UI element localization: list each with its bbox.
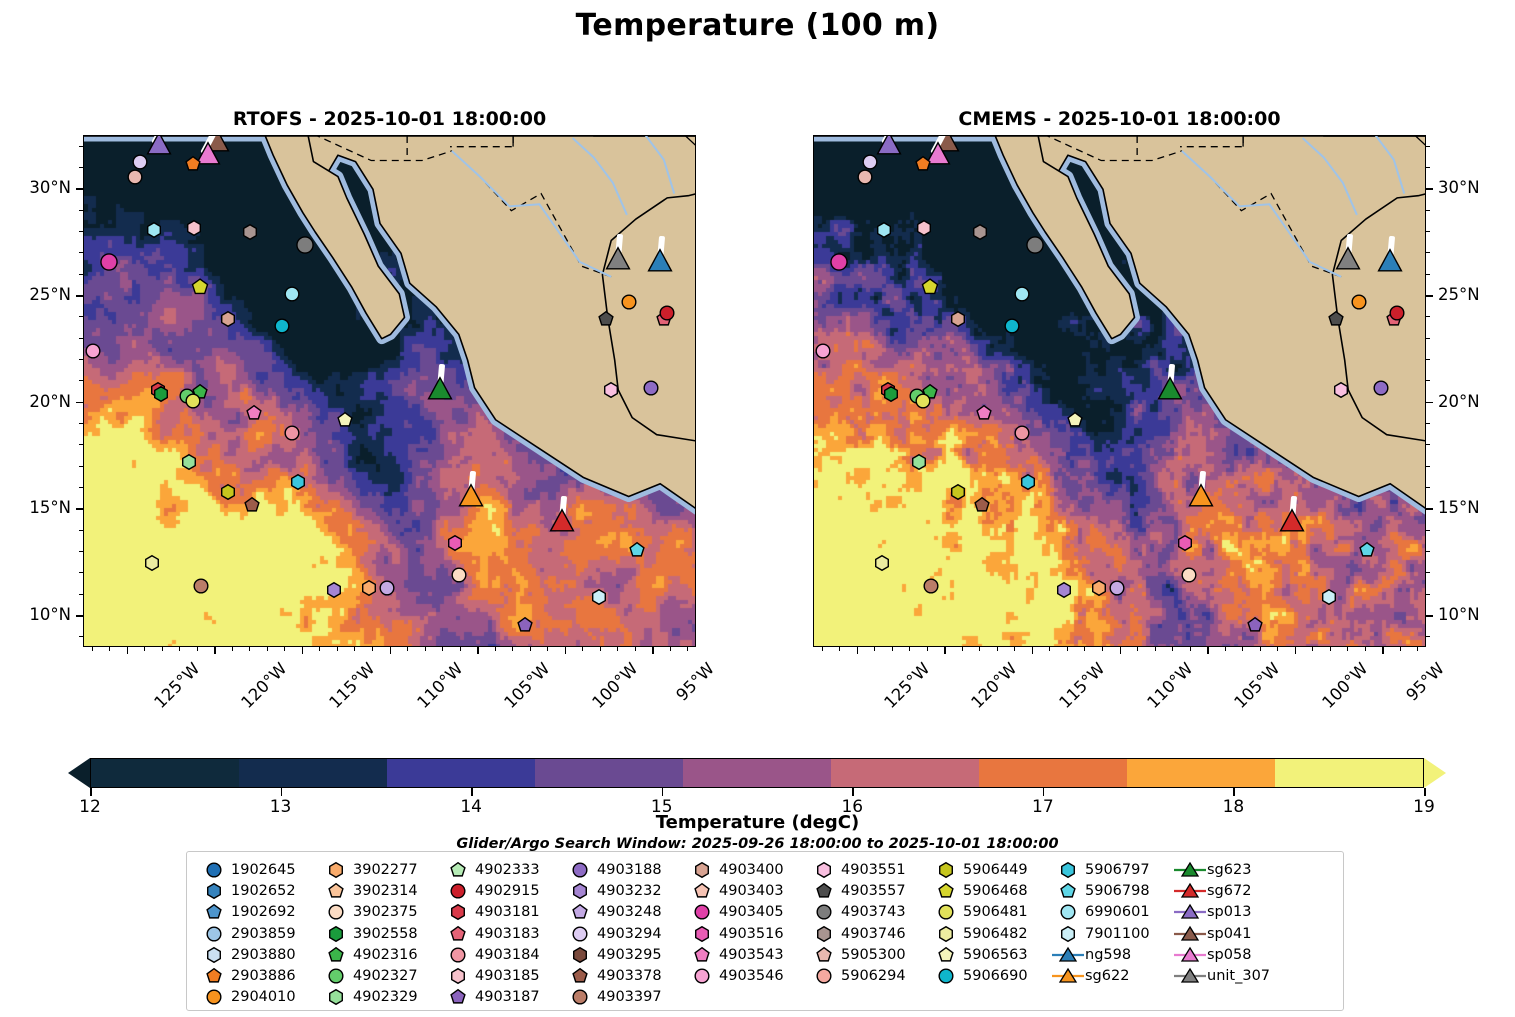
- legend-item-4902915[interactable]: 4902915: [441, 880, 563, 901]
- map-marker-2904010[interactable]: [618, 291, 640, 313]
- legend-item-4903183[interactable]: 4903183: [441, 923, 563, 944]
- legend-symbol-pentagon-icon: [197, 901, 231, 923]
- map-marker-sg672[interactable]: [547, 507, 577, 537]
- map-marker-3902558[interactable]: [150, 383, 172, 405]
- legend-item-7901100[interactable]: 7901100: [1051, 923, 1173, 944]
- legend-item-4903516[interactable]: 4903516: [685, 923, 807, 944]
- legend-item-1902692[interactable]: 1902692: [197, 902, 319, 923]
- map-marker-3902558[interactable]: [880, 383, 902, 405]
- map-marker-4903397[interactable]: [190, 575, 212, 597]
- legend-item-5906449[interactable]: 5906449: [929, 859, 1051, 880]
- colorbar-segment-6: [979, 759, 1127, 787]
- legend-item-2903859[interactable]: 2903859: [197, 923, 319, 944]
- y-minor-tick: [79, 167, 83, 168]
- legend-item-3902558[interactable]: 3902558: [319, 923, 441, 944]
- y-minor-tick: [79, 380, 83, 381]
- map-marker-5906690[interactable]: [1001, 315, 1023, 337]
- map-marker-4903185[interactable]: [183, 217, 205, 239]
- legend-symbol-pentagon-icon: [685, 880, 719, 902]
- legend-symbol-circle-icon: [807, 901, 841, 923]
- x-tick-label: 105°W: [1230, 659, 1283, 712]
- legend-item-4903400[interactable]: 4903400: [685, 859, 807, 880]
- x-minor-tick: [1347, 647, 1348, 651]
- y-minor-tick: [1426, 615, 1430, 616]
- y-minor-tick: [1426, 636, 1430, 637]
- map-marker-4903184[interactable]: [1011, 422, 1033, 444]
- map-marker-4903187[interactable]: [1244, 614, 1266, 636]
- legend-column-8: sg623sg672sp013sp041sp058unit_307: [1173, 859, 1305, 1004]
- map-marker-4903546[interactable]: [83, 340, 104, 362]
- legend-item-sp058[interactable]: sp058: [1173, 944, 1305, 965]
- map-marker-5906798[interactable]: [873, 219, 895, 241]
- x-minor-tick: [1225, 647, 1226, 651]
- legend-label: 4903551: [841, 862, 906, 878]
- legend-item-4903405[interactable]: 4903405: [685, 902, 807, 923]
- map-marker-4903557[interactable]: [1325, 308, 1347, 330]
- map-marker-4903397[interactable]: [920, 575, 942, 597]
- y-minor-tick: [79, 444, 83, 445]
- x-minor-tick: [1365, 647, 1366, 651]
- legend-label: 5906449: [963, 862, 1028, 878]
- y-minor-tick: [79, 530, 83, 531]
- legend-label: 2903859: [231, 926, 296, 942]
- colorbar-segment-4: [683, 759, 831, 787]
- x-minor-tick: [337, 647, 338, 651]
- legend-label: 4902316: [353, 947, 418, 963]
- legend-label: sp013: [1207, 904, 1251, 920]
- map-marker-ng598[interactable]: [645, 247, 675, 277]
- map-marker-5905300[interactable]: [854, 166, 876, 188]
- legend-label: 4903188: [597, 862, 662, 878]
- map-marker-7901100[interactable]: [588, 586, 610, 608]
- legend-item-4903185[interactable]: 4903185: [441, 965, 563, 986]
- legend-item-5906563[interactable]: 5906563: [929, 944, 1051, 965]
- legend-item-3902375[interactable]: 3902375: [319, 902, 441, 923]
- legend-column-7: 5906797590679869906017901100ng598sg622: [1051, 859, 1173, 1004]
- map-marker-3902375[interactable]: [1178, 564, 1200, 586]
- map-marker-4903743[interactable]: [1022, 232, 1048, 258]
- map-canvas-cmems[interactable]: [813, 135, 1426, 647]
- legend-column-3: 4903188490323249032484903294490329549033…: [563, 859, 685, 1004]
- map-marker-4903184[interactable]: [281, 422, 303, 444]
- map-marker-5906797[interactable]: [1017, 471, 1039, 493]
- x-minor-tick: [997, 647, 998, 651]
- map-marker-5906563[interactable]: [1064, 409, 1086, 431]
- colorbar-segment-3: [535, 759, 683, 787]
- x-tick-label: 115°W: [1055, 659, 1108, 712]
- map-marker-unit_307[interactable]: [603, 245, 633, 275]
- legend-label: 3902558: [353, 926, 418, 942]
- y-minor-tick: [79, 615, 83, 616]
- x-minor-tick: [1014, 647, 1015, 651]
- legend-label: 1902652: [231, 883, 296, 899]
- map-marker-4903551[interactable]: [1330, 379, 1352, 401]
- legend-label: 3902314: [353, 883, 418, 899]
- map-marker-6990601[interactable]: [281, 283, 303, 305]
- legend-symbol-pentagon-icon: [807, 880, 841, 902]
- map-marker-sg622[interactable]: [1186, 482, 1216, 512]
- x-minor-tick: [512, 647, 513, 651]
- map-marker-sg623[interactable]: [425, 375, 455, 405]
- legend-label: 5906294: [841, 968, 906, 984]
- y-tick-label: 30°N: [1438, 178, 1480, 197]
- x-minor-tick: [1207, 647, 1208, 651]
- legend-item-2904010[interactable]: 2904010: [197, 987, 319, 1008]
- x-minor-tick: [1032, 647, 1033, 651]
- x-tick-label: 120°W: [968, 659, 1021, 712]
- y-minor-tick: [79, 338, 83, 339]
- legend-column-2: 4902333490291549031814903183490318449031…: [441, 859, 563, 1004]
- x-tick-label: 95°W: [1403, 659, 1449, 705]
- legend-item-4903546[interactable]: 4903546: [685, 965, 807, 986]
- x-minor-tick: [839, 647, 840, 651]
- x-minor-tick: [302, 647, 303, 651]
- x-minor-tick: [874, 647, 875, 651]
- map-marker-4903746[interactable]: [239, 221, 261, 243]
- legend-item-4903397[interactable]: 4903397: [563, 987, 685, 1008]
- map-marker-4903378[interactable]: [971, 494, 993, 516]
- map-marker-4903543[interactable]: [973, 402, 995, 424]
- legend-item-4903743[interactable]: 4903743: [807, 902, 929, 923]
- legend-symbol-circle-icon: [685, 901, 719, 923]
- legend-symbol-pentagon-icon: [1051, 880, 1085, 902]
- map-marker-5906481[interactable]: [912, 390, 934, 412]
- colorbar: 1213141516171819: [68, 758, 1446, 788]
- map-marker-4902915[interactable]: [1386, 302, 1408, 324]
- legend-item-sp041[interactable]: sp041: [1173, 923, 1305, 944]
- map-marker-5906482[interactable]: [141, 552, 163, 574]
- legend-item-4903294[interactable]: 4903294: [563, 923, 685, 944]
- legend-label: sp058: [1207, 947, 1251, 963]
- legend-symbol-circle-icon: [441, 944, 475, 966]
- legend-item-2903886[interactable]: 2903886: [197, 965, 319, 986]
- map-marker-5906468[interactable]: [188, 275, 212, 299]
- legend-label: 4903295: [597, 947, 662, 963]
- map-marker-5906481[interactable]: [182, 390, 204, 412]
- legend-label: 7901100: [1085, 926, 1150, 942]
- x-minor-tick: [670, 647, 671, 651]
- y-minor-tick: [1426, 487, 1430, 488]
- legend-item-ng598[interactable]: ng598: [1051, 944, 1173, 965]
- legend-symbol-hexagon-icon: [441, 965, 475, 987]
- y-minor-tick: [1426, 530, 1430, 531]
- x-minor-tick: [1120, 647, 1121, 651]
- map-marker-ng598[interactable]: [1375, 247, 1405, 277]
- x-minor-tick: [1260, 647, 1261, 651]
- map-marker-4903543[interactable]: [243, 402, 265, 424]
- map-marker-4903746[interactable]: [969, 221, 991, 243]
- legend-label: 4903403: [719, 883, 784, 899]
- x-minor-tick: [477, 647, 478, 651]
- legend-symbol-pentagon-icon: [685, 944, 719, 966]
- x-minor-tick: [214, 647, 215, 651]
- map-marker-5906468[interactable]: [918, 275, 942, 299]
- map-marker-5906482[interactable]: [871, 552, 893, 574]
- legend-item-4903378[interactable]: 4903378: [563, 965, 685, 986]
- y-minor-tick: [79, 423, 83, 424]
- legend-label: ng598: [1085, 947, 1131, 963]
- legend-item-4903746[interactable]: 4903746: [807, 923, 929, 944]
- legend-label: sg622: [1085, 968, 1129, 984]
- map-marker-4903557[interactable]: [595, 308, 617, 330]
- x-minor-tick: [1190, 647, 1191, 651]
- legend-item-4903188[interactable]: 4903188: [563, 859, 685, 880]
- legend-label: 4902329: [353, 989, 418, 1005]
- colorbar-segment-0: [91, 759, 239, 787]
- x-minor-tick: [600, 647, 601, 651]
- legend-item-5906690[interactable]: 5906690: [929, 965, 1051, 986]
- map-marker-4903546[interactable]: [813, 340, 834, 362]
- map-marker-4902329[interactable]: [178, 451, 200, 473]
- legend-label: 4903183: [475, 926, 540, 942]
- legend-item-5906797[interactable]: 5906797: [1051, 859, 1173, 880]
- y-minor-tick: [1426, 146, 1430, 147]
- figure-title: Temperature (100 m): [0, 8, 1515, 43]
- map-panel-cmems: CMEMS - 2025-10-01 18:00:00125°W120°W115…: [813, 135, 1426, 647]
- map-marker-5906563[interactable]: [334, 409, 356, 431]
- legend-symbol-hexagon-icon: [685, 923, 719, 945]
- legend-item-sg672[interactable]: sg672: [1173, 880, 1305, 901]
- legend-label: 4902327: [353, 968, 418, 984]
- legend-symbol-pentagon-icon: [929, 880, 963, 902]
- map-marker-sg623[interactable]: [1155, 375, 1185, 405]
- map-marker-4903405[interactable]: [96, 249, 122, 275]
- legend-symbol-circle-icon: [807, 965, 841, 987]
- map-marker-5906449[interactable]: [947, 481, 969, 503]
- legend-symbol-hexagon-icon: [929, 923, 963, 945]
- legend-symbol-triangle-line-icon: [1173, 882, 1207, 900]
- legend-item-sg623[interactable]: sg623: [1173, 859, 1305, 880]
- map-marker-4903516[interactable]: [444, 532, 466, 554]
- legend-symbol-hexagon-icon: [441, 901, 475, 923]
- legend-label: unit_307: [1207, 968, 1270, 984]
- legend-label: 4903397: [597, 989, 662, 1005]
- legend-label: 6990601: [1085, 904, 1150, 920]
- y-minor-tick: [1426, 444, 1430, 445]
- x-minor-tick: [442, 647, 443, 651]
- x-minor-tick: [284, 647, 285, 651]
- y-minor-tick: [79, 551, 83, 552]
- legend-item-4903403[interactable]: 4903403: [685, 880, 807, 901]
- map-marker-4903516[interactable]: [1174, 532, 1196, 554]
- map-marker-4903232[interactable]: [1053, 579, 1075, 601]
- legend-label: 4903187: [475, 989, 540, 1005]
- legend-item-4903187[interactable]: 4903187: [441, 987, 563, 1008]
- map-marker-sg622[interactable]: [456, 482, 486, 512]
- colorbar-tick: [1424, 788, 1426, 796]
- legend-label: 4902333: [475, 862, 540, 878]
- legend-label: 5906481: [963, 904, 1028, 920]
- legend-item-5906798[interactable]: 5906798: [1051, 880, 1173, 901]
- x-minor-tick: [1084, 647, 1085, 651]
- legend-item-5906481[interactable]: 5906481: [929, 902, 1051, 923]
- legend-item-4903248[interactable]: 4903248: [563, 902, 685, 923]
- legend-item-6990601[interactable]: 6990601: [1051, 902, 1173, 923]
- legend-symbol-hexagon-icon: [807, 859, 841, 881]
- map-marker-4903248[interactable]: [376, 577, 398, 599]
- legend-symbol-pentagon-icon: [319, 880, 353, 902]
- legend-item-2903880[interactable]: 2903880: [197, 944, 319, 965]
- x-minor-tick: [1137, 647, 1138, 651]
- y-tick-label: 10°N: [29, 605, 71, 624]
- map-marker-4903248[interactable]: [1106, 577, 1128, 599]
- map-marker-5905300[interactable]: [124, 166, 146, 188]
- map-marker-7901100[interactable]: [1318, 586, 1340, 608]
- legend-item-5906482[interactable]: 5906482: [929, 923, 1051, 944]
- y-minor-tick: [79, 274, 83, 275]
- legend-item-4903181[interactable]: 4903181: [441, 902, 563, 923]
- y-minor-tick: [79, 487, 83, 488]
- legend-item-1902652[interactable]: 1902652: [197, 880, 319, 901]
- map-marker-5906798b[interactable]: [626, 539, 648, 561]
- legend-symbol-pentagon-icon: [441, 923, 475, 945]
- legend-item-4902316[interactable]: 4902316: [319, 944, 441, 965]
- legend-label: 4902915: [475, 883, 540, 899]
- map-marker-4903188[interactable]: [640, 377, 662, 399]
- x-minor-tick: [1417, 647, 1418, 651]
- legend-symbol-circle-icon: [197, 923, 231, 945]
- legend-item-5906468[interactable]: 5906468: [929, 880, 1051, 901]
- legend-item-3902277[interactable]: 3902277: [319, 859, 441, 880]
- x-minor-tick: [495, 647, 496, 651]
- legend-label: 4903378: [597, 968, 662, 984]
- legend-symbol-circle-icon: [929, 901, 963, 923]
- y-minor-tick: [1426, 188, 1430, 189]
- legend-item-3902314[interactable]: 3902314: [319, 880, 441, 901]
- x-minor-tick: [267, 647, 268, 651]
- legend-item-4903557[interactable]: 4903557: [807, 880, 929, 901]
- y-minor-tick: [1426, 380, 1430, 381]
- map-marker-4903400[interactable]: [217, 308, 239, 330]
- y-minor-tick: [1426, 316, 1430, 317]
- x-minor-tick: [319, 647, 320, 651]
- map-marker-5906449[interactable]: [217, 481, 239, 503]
- map-marker-4903185[interactable]: [913, 217, 935, 239]
- x-minor-tick: [927, 647, 928, 651]
- map-marker-4903400[interactable]: [947, 308, 969, 330]
- map-marker-5906798b[interactable]: [1356, 539, 1378, 561]
- legend-symbol-pentagon-icon: [441, 986, 475, 1008]
- map-marker-sg672[interactable]: [1277, 507, 1307, 537]
- map-marker-5906798[interactable]: [143, 219, 165, 241]
- y-tick-label: 15°N: [29, 498, 71, 517]
- x-minor-tick: [687, 647, 688, 651]
- legend-label: 5906563: [963, 947, 1028, 963]
- panel-title-cmems: CMEMS - 2025-10-01 18:00:00: [813, 108, 1426, 130]
- map-marker-unit_307[interactable]: [1333, 245, 1363, 275]
- map-marker-4903378[interactable]: [241, 494, 263, 516]
- legend-label: 4903248: [597, 904, 662, 920]
- map-marker-4903232[interactable]: [323, 579, 345, 601]
- legend-label: 2903886: [231, 968, 296, 984]
- legend-item-4903543[interactable]: 4903543: [685, 944, 807, 965]
- legend-item-sg622[interactable]: sg622: [1051, 965, 1173, 986]
- legend-item-unit_307[interactable]: unit_307: [1173, 965, 1305, 986]
- colorbar-under-arrow: [68, 758, 90, 788]
- legend-item-4903551[interactable]: 4903551: [807, 859, 929, 880]
- x-minor-tick: [582, 647, 583, 651]
- legend-item-5905300[interactable]: 5905300: [807, 944, 929, 965]
- map-marker-4903188[interactable]: [1370, 377, 1392, 399]
- legend-label: 3902277: [353, 862, 418, 878]
- x-minor-tick: [460, 647, 461, 651]
- map-marker-4903405[interactable]: [826, 249, 852, 275]
- map-marker-4903551[interactable]: [600, 379, 622, 401]
- legend-label: 2904010: [231, 989, 296, 1005]
- x-minor-tick: [144, 647, 145, 651]
- map-canvas-rtofs[interactable]: [83, 135, 696, 647]
- map-marker-4903187[interactable]: [514, 614, 536, 636]
- x-tick-label: 125°W: [880, 659, 933, 712]
- legend-symbol-circle-icon: [197, 859, 231, 881]
- y-tick-label: 10°N: [1438, 605, 1480, 624]
- colorbar-tick: [852, 788, 854, 796]
- legend-symbol-hexagon-icon: [563, 944, 597, 966]
- y-tick-label: 25°N: [1438, 285, 1480, 304]
- map-marker-4902915[interactable]: [656, 302, 678, 324]
- legend-item-4902329[interactable]: 4902329: [319, 987, 441, 1008]
- x-minor-tick: [652, 647, 653, 651]
- legend-item-4903232[interactable]: 4903232: [563, 880, 685, 901]
- legend-item-sp013[interactable]: sp013: [1173, 902, 1305, 923]
- legend-symbol-circle-icon: [929, 965, 963, 987]
- legend-column-5: 4903551490355749037434903746590530059062…: [807, 859, 929, 1004]
- map-marker-5906797[interactable]: [287, 471, 309, 493]
- y-minor-tick: [79, 594, 83, 595]
- legend-item-1902645[interactable]: 1902645: [197, 859, 319, 880]
- map-marker-2903886[interactable]: [182, 153, 204, 175]
- map-marker-6990601[interactable]: [1011, 283, 1033, 305]
- y-minor-tick: [1426, 423, 1430, 424]
- legend-symbol-hexagon-icon: [319, 986, 353, 1008]
- x-minor-tick: [1049, 647, 1050, 651]
- x-minor-tick: [407, 647, 408, 651]
- legend-item-4903184[interactable]: 4903184: [441, 944, 563, 965]
- legend-symbol-circle-icon: [685, 965, 719, 987]
- legend-item-4902333[interactable]: 4902333: [441, 859, 563, 880]
- legend-symbol-circle-icon: [441, 880, 475, 902]
- legend-symbol-hexagon-icon: [197, 880, 231, 902]
- x-minor-tick: [127, 647, 128, 651]
- y-minor-tick: [1426, 572, 1430, 573]
- x-minor-tick: [944, 647, 945, 651]
- x-minor-tick: [390, 647, 391, 651]
- legend-item-4903295[interactable]: 4903295: [563, 944, 685, 965]
- x-minor-tick: [425, 647, 426, 651]
- map-marker-5906690[interactable]: [271, 315, 293, 337]
- map-marker-2903886[interactable]: [912, 153, 934, 175]
- legend-label: sg672: [1207, 883, 1251, 899]
- legend-label: 5906690: [963, 968, 1028, 984]
- legend-column-0: 1902645190265219026922903859290388029038…: [197, 859, 319, 1004]
- legend-symbol-triangle-line-icon: [1051, 946, 1085, 964]
- x-minor-tick: [92, 647, 93, 651]
- y-minor-tick: [1426, 167, 1430, 168]
- legend-item-5906294[interactable]: 5906294: [807, 965, 929, 986]
- legend-symbol-pentagon-icon: [563, 901, 597, 923]
- y-minor-tick: [1426, 594, 1430, 595]
- legend-label: sp041: [1207, 926, 1251, 942]
- legend-item-4902327[interactable]: 4902327: [319, 965, 441, 986]
- legend-symbol-pentagon-icon: [807, 944, 841, 966]
- x-minor-tick: [857, 647, 858, 651]
- legend-symbol-pentagon-icon: [929, 944, 963, 966]
- map-marker-4902329[interactable]: [908, 451, 930, 473]
- map-marker-3902375[interactable]: [448, 564, 470, 586]
- map-marker-2904010[interactable]: [1348, 291, 1370, 313]
- map-marker-4903743[interactable]: [292, 232, 318, 258]
- legend-symbol-hexagon-icon: [929, 859, 963, 881]
